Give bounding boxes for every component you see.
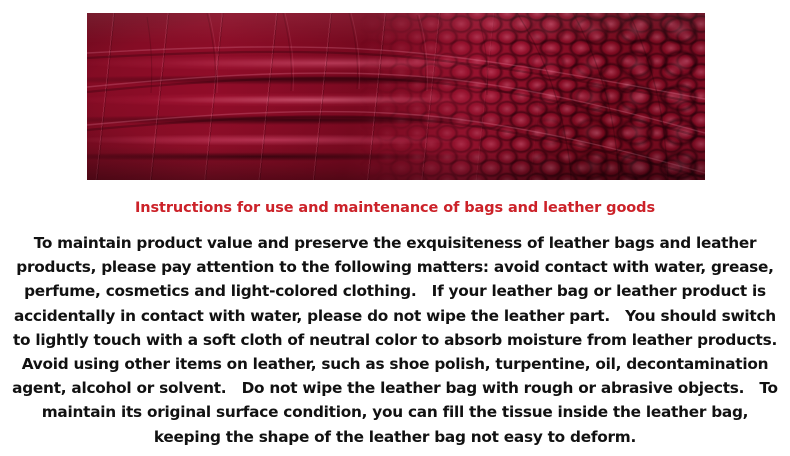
page-title: Instructions for use and maintenance of … xyxy=(0,200,790,216)
care-instructions-line: To maintain product value and preserve t… xyxy=(12,231,778,255)
leather-gloss-overlay xyxy=(87,13,705,180)
leather-texture-image xyxy=(87,13,705,180)
care-instructions-text: To maintain product value and preserve t… xyxy=(12,231,778,449)
care-instructions-line: agent, alcohol or solvent. Do not wipe t… xyxy=(12,376,778,400)
care-instructions-line: maintain its original surface condition,… xyxy=(12,400,778,424)
care-instructions-line: Avoid using other items on leather, such… xyxy=(12,352,778,376)
care-instructions-line: to lightly touch with a soft cloth of ne… xyxy=(12,328,778,352)
care-instructions-line: accidentally in contact with water, plea… xyxy=(12,304,778,328)
care-instructions-line: perfume, cosmetics and light-colored clo… xyxy=(12,279,778,303)
product-care-page: Instructions for use and maintenance of … xyxy=(0,0,790,456)
care-instructions-line: keeping the shape of the leather bag not… xyxy=(12,425,778,449)
care-instructions-line: products, please pay attention to the fo… xyxy=(12,255,778,279)
